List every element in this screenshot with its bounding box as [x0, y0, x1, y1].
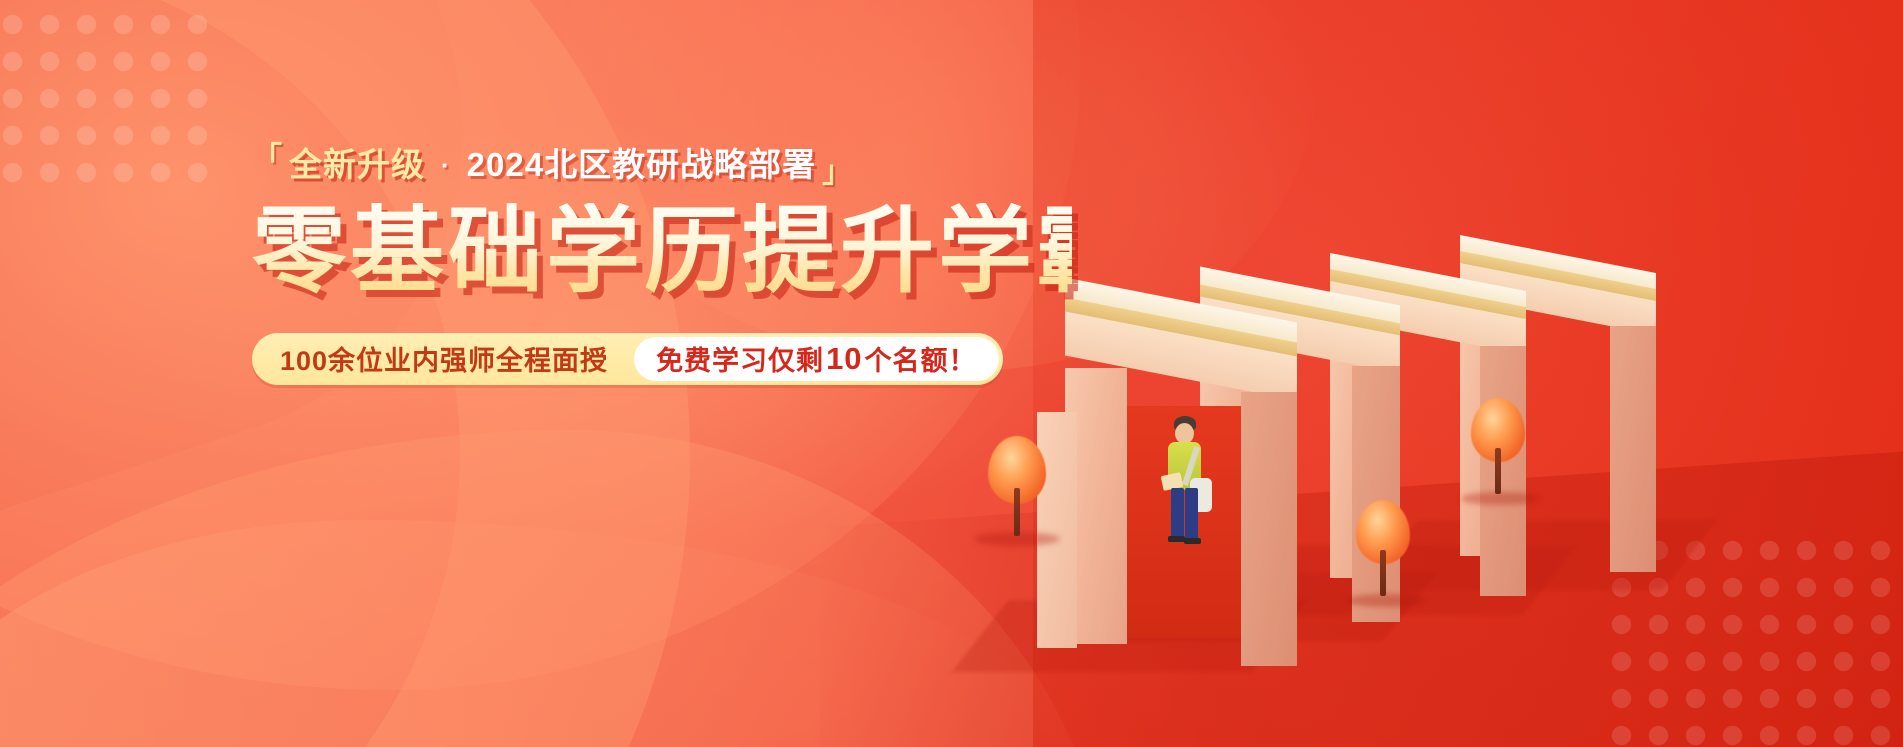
gate3-book-page-top — [1330, 253, 1526, 311]
tree-center-shadow — [1346, 594, 1426, 607]
student-jacket — [1168, 442, 1201, 490]
gate4-pier-left — [1460, 306, 1516, 556]
gate4-book-page-top — [1460, 235, 1656, 293]
student-shoe-front — [1184, 538, 1201, 544]
offer-pill[interactable]: 100余位业内强师全程面授 免费学习仅剩 10 个名额！ — [252, 333, 1003, 385]
gate4-lintel — [1460, 263, 1656, 335]
bracket-open-icon: 「 — [252, 144, 283, 174]
autumn-tree-right — [1465, 398, 1555, 508]
gate-shadow-3 — [1233, 545, 1578, 615]
gate2-pier-right — [1352, 366, 1400, 622]
tree-center-crown — [1356, 500, 1410, 564]
book-gate-4 — [1460, 240, 1690, 570]
banner-copy: 「 全新升级 · 2024北区教研战略部署 」 零基础学历提升学霸班 100余位… — [252, 148, 1072, 385]
book-gate-2 — [1200, 272, 1440, 622]
gate-shadow-4 — [1363, 520, 1718, 590]
bg-red-wedge-right — [1033, 0, 1903, 747]
student-book — [1161, 472, 1184, 491]
pill-right-badge: 免费学习仅剩 10 个名额！ — [634, 337, 998, 381]
tree-left-crown — [988, 436, 1046, 504]
student-bag-strap — [1182, 446, 1200, 486]
gate4-pier-right — [1610, 326, 1656, 572]
gate1-book-page-edge — [1065, 297, 1297, 360]
bg-ground-ramp — [820, 447, 1903, 747]
gate-shadow-1 — [952, 600, 1308, 672]
page-title: 零基础学历提升学霸班 — [252, 203, 1072, 299]
illustration-book-gates — [960, 0, 1903, 747]
student-shoe-back — [1168, 536, 1185, 542]
student-figure — [1152, 416, 1222, 548]
gate3-pier-right — [1480, 346, 1526, 596]
dot-grid-bottom-right-icon — [1603, 532, 1903, 747]
gate1-pier-left-front — [1037, 412, 1077, 648]
tree-right-trunk — [1495, 448, 1501, 494]
eyebrow-white-text: 2024北区教研战略部署 — [467, 148, 816, 181]
gate4-book-page-edge — [1460, 251, 1656, 305]
autumn-tree-left — [980, 436, 1070, 546]
gate2-pier-left — [1200, 344, 1258, 602]
gate3-pier-left — [1330, 326, 1386, 578]
gate1-lintel — [1065, 311, 1297, 400]
book-gate-1 — [1065, 288, 1340, 668]
pill-right-suffix: 个名额！ — [865, 339, 977, 378]
tree-right-shadow — [1461, 492, 1539, 505]
pill-left-label: 100余位业内强师全程面授 — [280, 339, 634, 378]
student-leg-front — [1185, 488, 1198, 540]
gate1-doorway-opening — [1125, 406, 1241, 638]
tree-left-trunk — [1014, 488, 1020, 536]
gate2-lintel — [1200, 297, 1400, 374]
eyebrow-line: 「 全新升级 · 2024北区教研战略部署 」 — [252, 148, 1072, 181]
student-hair — [1174, 416, 1196, 431]
eyebrow-gold-text: 全新升级 — [289, 148, 425, 181]
bg-sweep-bottom-left — [0, 520, 1080, 747]
autumn-tree-center — [1350, 500, 1440, 610]
book-gate-3 — [1330, 258, 1560, 598]
status-badge-count: 10 — [824, 341, 864, 377]
bracket-close-icon: 」 — [822, 158, 853, 188]
tree-left-shadow — [974, 532, 1060, 546]
tree-center-trunk — [1380, 550, 1386, 596]
dot-grid-top-left-icon — [0, 6, 209, 196]
gate-shadow-2 — [1093, 572, 1438, 642]
gate3-book-page-edge — [1330, 269, 1526, 323]
gate1-pier-left — [1065, 368, 1127, 644]
student-bag — [1190, 478, 1212, 512]
student-leg-back — [1171, 488, 1184, 538]
student-head — [1175, 423, 1194, 444]
tree-right-crown — [1471, 398, 1525, 462]
eyebrow-separator-icon: · — [431, 152, 461, 178]
pill-right-prefix: 免费学习仅剩 — [656, 339, 824, 378]
gate3-lintel — [1330, 281, 1526, 355]
bg-wash-bottom-left — [0, 430, 1110, 747]
gate1-pier-right — [1241, 392, 1297, 666]
promo-banner: 「 全新升级 · 2024北区教研战略部署 」 零基础学历提升学霸班 100余位… — [0, 0, 1903, 747]
